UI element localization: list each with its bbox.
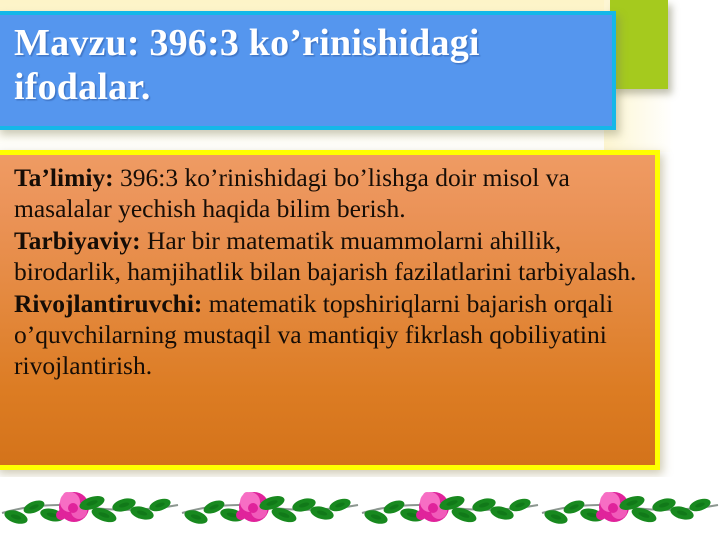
slide-canvas: Mavzu: 396:3 ko’rinishidagi ifodalar. Ta… xyxy=(0,0,720,540)
objective-paragraph-tarbiyaviy: Tarbiyaviy: Har bir matematik muammolarn… xyxy=(14,226,645,287)
objective-label-rivojlantiruvchi: Rivojlantiruvchi: xyxy=(14,289,202,318)
floral-unit xyxy=(540,479,720,539)
objective-paragraph-talimiy: Ta’limiy: 396:3 ko’rinishidagi bo’lishga… xyxy=(14,163,645,224)
objective-label-talimiy: Ta’limiy: xyxy=(14,163,114,192)
floral-unit xyxy=(360,479,540,539)
objective-paragraph-rivojlantiruvchi: Rivojlantiruvchi: matematik topshiriqlar… xyxy=(14,289,645,381)
floral-unit xyxy=(180,479,360,539)
green-accent-block xyxy=(610,0,668,89)
title-box: Mavzu: 396:3 ko’rinishidagi ifodalar. xyxy=(0,11,616,130)
objective-label-tarbiyaviy: Tarbiyaviy: xyxy=(14,226,141,255)
page-title: Mavzu: 396:3 ko’rinishidagi ifodalar. xyxy=(14,21,602,109)
objectives-box: Ta’limiy: 396:3 ko’rinishidagi bo’lishga… xyxy=(0,150,660,470)
floral-unit xyxy=(0,479,180,539)
rose-vine-border xyxy=(0,477,720,540)
